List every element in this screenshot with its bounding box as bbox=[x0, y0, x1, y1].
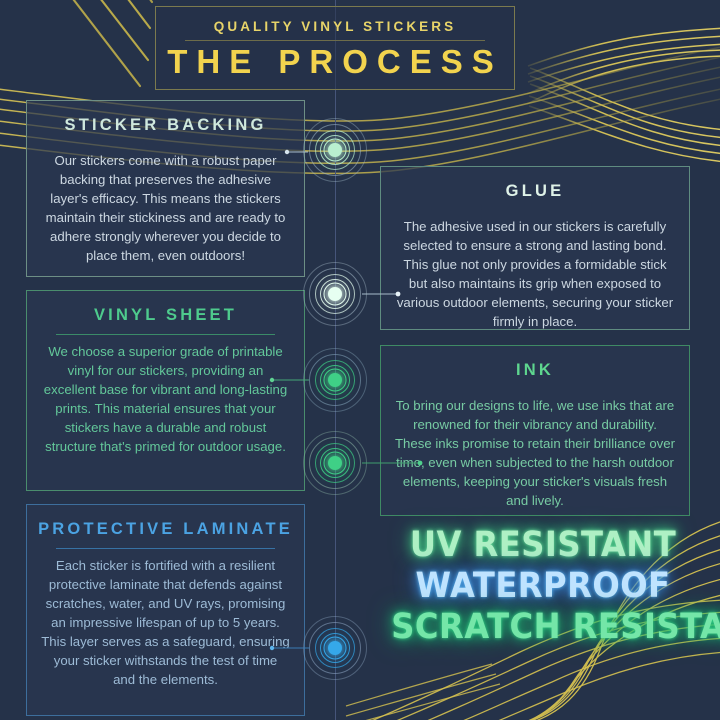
node-core bbox=[328, 143, 342, 157]
card-title-ink: INK bbox=[516, 361, 554, 380]
header-divider bbox=[185, 40, 485, 41]
card-ink: INK To bring our designs to life, we use… bbox=[380, 345, 690, 516]
card-protective-laminate: PROTECTIVE LAMINATE Each sticker is fort… bbox=[26, 504, 305, 716]
card-body-ink: To bring our designs to life, we use ink… bbox=[395, 396, 675, 510]
neon-uv-resistant: UV RESISTANT bbox=[391, 528, 695, 563]
bottom-left-wave-lines bbox=[346, 664, 500, 720]
card-title-protective-laminate: PROTECTIVE LAMINATE bbox=[38, 520, 293, 539]
top-right-wave-lines bbox=[527, 28, 720, 104]
header-panel: QUALITY VINYL STICKERS THE PROCESS bbox=[155, 6, 515, 90]
infographic-canvas: QUALITY VINYL STICKERS THE PROCESS STICK… bbox=[0, 0, 720, 720]
neon-claims: UV RESISTANT WATERPROOF SCRATCH RESISTAN… bbox=[378, 528, 708, 651]
card-title-vinyl-sheet: VINYL SHEET bbox=[94, 306, 237, 325]
card-body-protective-laminate: Each sticker is fortified with a resilie… bbox=[41, 556, 290, 689]
node-core bbox=[328, 287, 342, 301]
header-kicker: QUALITY VINYL STICKERS bbox=[214, 19, 456, 34]
node-vinyl[interactable] bbox=[303, 348, 367, 412]
node-ink[interactable] bbox=[303, 431, 367, 495]
node-glue[interactable] bbox=[303, 262, 367, 326]
node-core bbox=[328, 641, 342, 655]
node-laminate[interactable] bbox=[303, 616, 367, 680]
card-body-vinyl-sheet: We choose a superior grade of printable … bbox=[41, 342, 290, 456]
page-title: THE PROCESS bbox=[167, 45, 503, 80]
card-body-sticker-backing: Our stickers come with a robust paper ba… bbox=[41, 151, 290, 265]
card-title-sticker-backing: STICKER BACKING bbox=[64, 116, 266, 135]
node-backing[interactable] bbox=[303, 118, 367, 182]
neon-waterproof: WATERPROOF bbox=[391, 569, 695, 604]
card-divider bbox=[56, 548, 275, 549]
card-body-glue: The adhesive used in our stickers is car… bbox=[395, 217, 675, 331]
card-sticker-backing: STICKER BACKING Our stickers come with a… bbox=[26, 100, 305, 277]
top-right-wave-lines-2 bbox=[529, 68, 720, 162]
neon-scratch-resistant: SCRATCH RESISTANT bbox=[391, 610, 695, 645]
card-title-glue: GLUE bbox=[506, 182, 565, 201]
card-vinyl-sheet: VINYL SHEET We choose a superior grade o… bbox=[26, 290, 305, 491]
diagonal-streaks bbox=[60, 0, 152, 86]
node-core bbox=[328, 456, 342, 470]
card-glue: GLUE The adhesive used in our stickers i… bbox=[380, 166, 690, 330]
card-divider bbox=[56, 334, 275, 335]
node-core bbox=[328, 373, 342, 387]
